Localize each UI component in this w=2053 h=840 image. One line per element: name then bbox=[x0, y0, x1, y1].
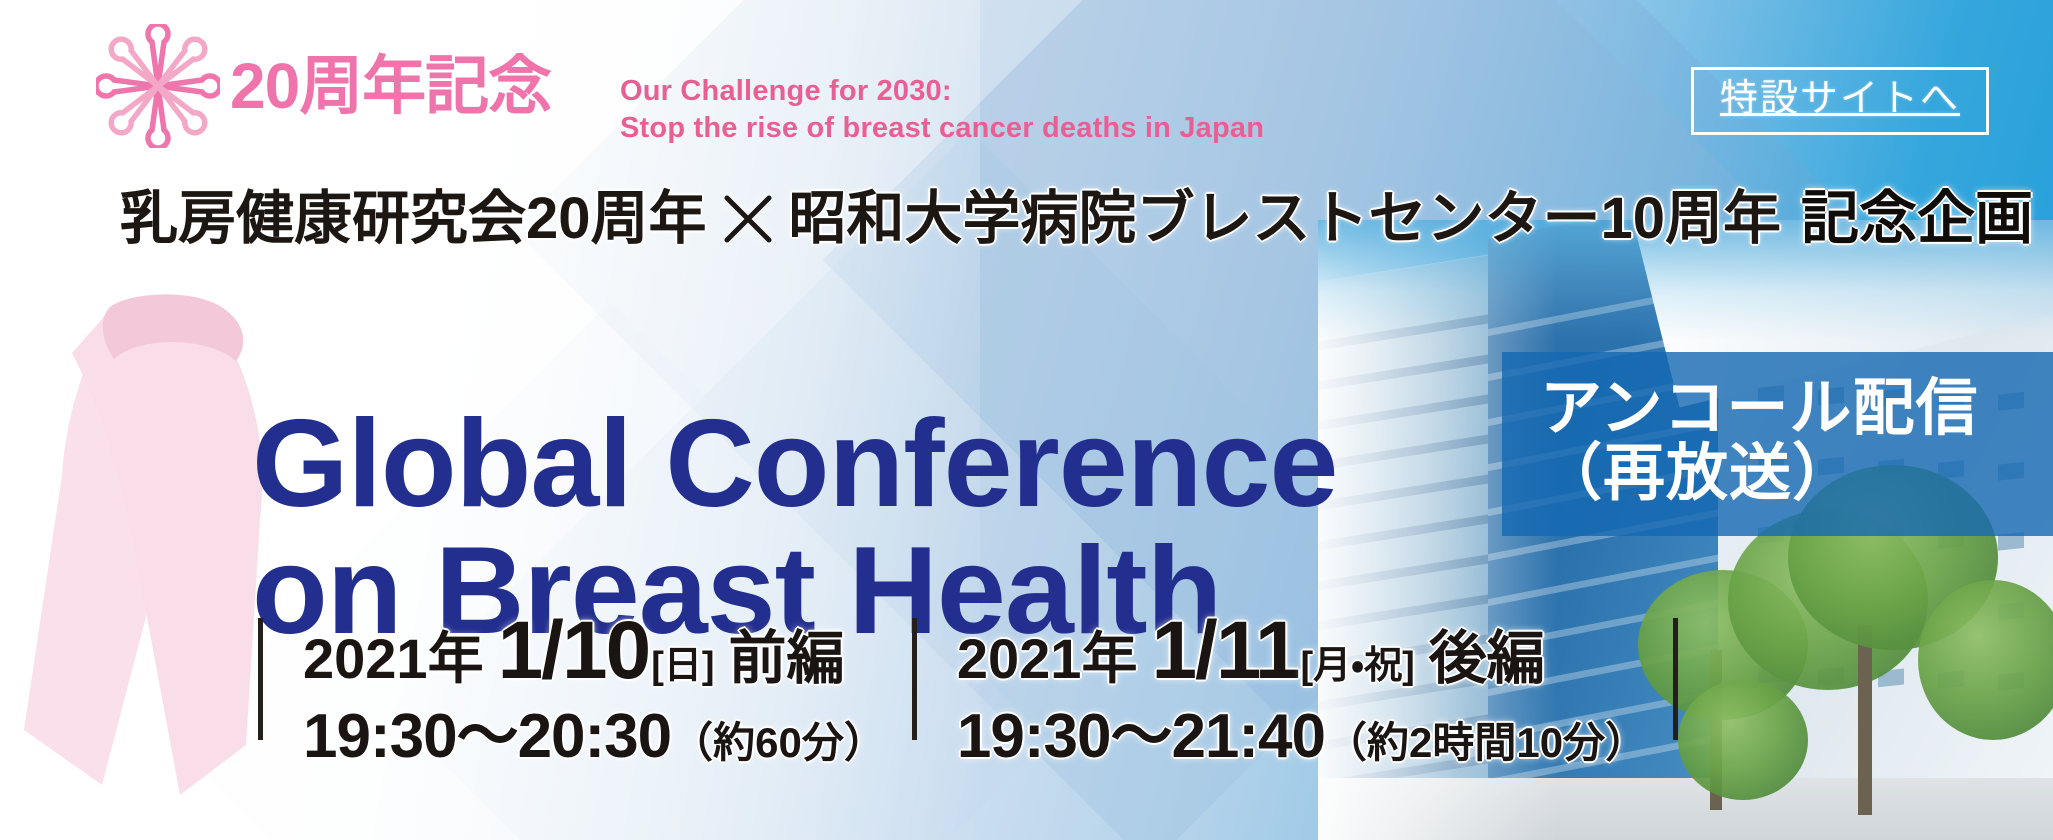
multiply-x-icon bbox=[721, 192, 775, 246]
collaboration-line: 乳房健康研究会20周年 昭和大学病院ブレストセンター10周年 記念企画 bbox=[120, 190, 2033, 248]
collab-suffix: 記念企画 bbox=[1801, 190, 2033, 248]
title-line-1: Global Conference bbox=[252, 395, 1337, 533]
schedule-session-1: 2021年 1/10 [日] 前編 19:30〜20:30（約60分） bbox=[263, 608, 912, 769]
session-2-time-row: 19:30〜21:40（約2時間10分） bbox=[957, 704, 1647, 769]
anniversary-label: 20周年記念 bbox=[230, 54, 551, 118]
session-1-part: 前編 bbox=[729, 629, 845, 690]
session-1-dayofweek: [日] bbox=[651, 647, 714, 687]
session-1-duration: （約60分） bbox=[671, 719, 886, 766]
encore-badge: アンコール配信 （再放送） bbox=[1502, 352, 2053, 536]
schedule: 2021年 1/10 [日] 前編 19:30〜20:30（約60分） 2021… bbox=[258, 608, 1678, 769]
special-site-button[interactable]: 特設サイトへ bbox=[1691, 67, 1989, 135]
session-1-date: 2021年 1/10 [日] 前編 bbox=[303, 608, 886, 694]
session-2-monthday: 1/11 bbox=[1151, 608, 1298, 694]
pink-ribbon-flower-icon bbox=[96, 24, 220, 148]
session-2-dayofweek: [月・祝] bbox=[1301, 647, 1415, 687]
session-2-part: 後編 bbox=[1429, 629, 1545, 690]
tagline-line-1: Our Challenge for 2030: bbox=[620, 73, 1264, 110]
photo-tree bbox=[1678, 680, 1808, 800]
schedule-divider bbox=[1673, 618, 1678, 740]
session-2-duration: （約2時間10分） bbox=[1325, 719, 1647, 766]
session-2-date: 2021年 1/11 [月・祝] 後編 bbox=[957, 608, 1647, 694]
tagline-line-2: Stop the rise of breast cancer deaths in… bbox=[620, 110, 1264, 147]
photo-tree-trunk bbox=[1858, 625, 1872, 815]
anniversary-block: 20周年記念 bbox=[96, 24, 551, 148]
collab-right-org: 昭和大学病院ブレストセンター10周年 bbox=[789, 190, 1782, 248]
session-1-time: 19:30〜20:30 bbox=[303, 702, 671, 771]
session-1-time-row: 19:30〜20:30（約60分） bbox=[303, 704, 886, 769]
event-banner: 20周年記念 Our Challenge for 2030: Stop the … bbox=[0, 0, 2053, 840]
schedule-session-2: 2021年 1/11 [月・祝] 後編 19:30〜21:40（約2時間10分） bbox=[917, 608, 1673, 769]
session-1-monthday: 1/10 bbox=[498, 608, 650, 694]
session-1-year: 2021年 bbox=[303, 630, 484, 689]
encore-line-1: アンコール配信 bbox=[1540, 376, 2053, 441]
session-2-time: 19:30〜21:40 bbox=[957, 702, 1325, 771]
encore-line-2: （再放送） bbox=[1540, 441, 2053, 506]
collab-left-org: 乳房健康研究会20周年 bbox=[120, 190, 707, 248]
session-2-year: 2021年 bbox=[957, 630, 1138, 689]
tagline: Our Challenge for 2030: Stop the rise of… bbox=[620, 73, 1264, 147]
